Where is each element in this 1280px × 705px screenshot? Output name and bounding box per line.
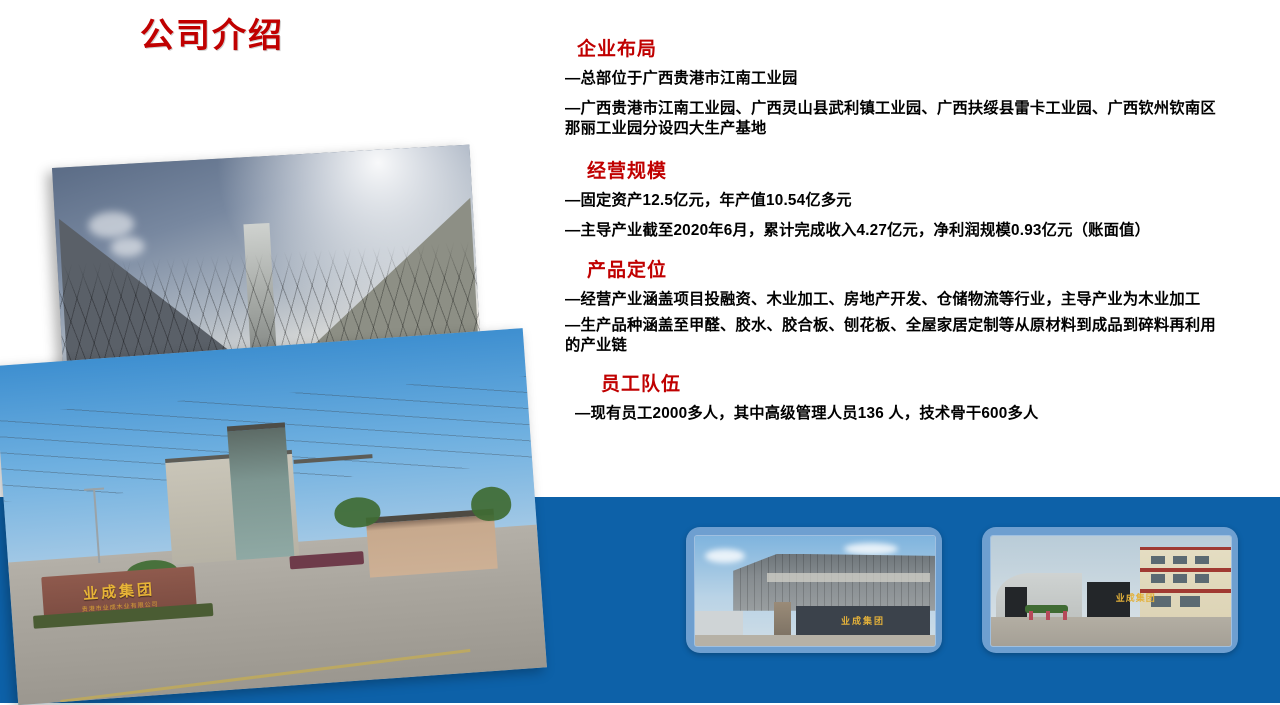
photo-company-gate: 业成集团 贵港市业成木业有限公司: [0, 328, 547, 705]
warehouse-body: [733, 554, 935, 611]
cloud-shape: [705, 549, 745, 563]
bullet-item: —总部位于广西贵港市江南工业园: [565, 69, 1225, 90]
section-heading: 产品定位: [587, 255, 1225, 282]
factory-gate-panel-secondary: [1005, 587, 1027, 618]
section-staff-team: 员工队伍 —现有员工2000多人，其中高级管理人员136 人，技术骨干600多人: [565, 369, 1225, 425]
section-heading: 企业布局: [577, 34, 1225, 61]
section-heading: 经营规模: [587, 156, 1225, 183]
barrier-post: [1046, 611, 1050, 620]
section-product-positioning: 产品定位 —经营产业涵盖项目投融资、木业加工、房地产开发、仓储物流等行业，主导产…: [565, 255, 1225, 357]
bullet-item: —生产品种涵盖至甲醛、胶水、胶合板、刨花板、全屋家居定制等从原材料到成品到碎料再…: [565, 316, 1225, 357]
cloud-shape: [844, 543, 898, 555]
bullet-item: —现有员工2000多人，其中高级管理人员136 人，技术骨干600多人: [575, 404, 1225, 425]
barrier-post: [1063, 611, 1067, 620]
page-title: 公司介绍: [140, 8, 284, 57]
facade-stripe: [1140, 568, 1231, 572]
office-building: [1140, 547, 1231, 620]
bullet-item: —经营产业涵盖项目投融资、木业加工、房地产开发、仓储物流等行业，主导产业为木业加…: [565, 290, 1225, 311]
window-shape: [1151, 556, 1166, 564]
section-heading: 员工队伍: [601, 369, 1225, 396]
adjacent-structure: [695, 611, 743, 637]
bullet-item: —主导产业截至2020年6月，累计完成收入4.27亿元，净利润规模0.93亿元（…: [565, 221, 1225, 242]
window-shape: [1173, 556, 1188, 564]
window-shape: [1173, 574, 1188, 584]
window-shape: [1151, 574, 1166, 584]
barrier-post: [1029, 611, 1033, 620]
office-building-center-glass: [227, 422, 295, 560]
factory-sign-text: 业成集团: [1116, 591, 1156, 604]
thumbnail-frame-factory-gate: 业成集团: [982, 527, 1238, 653]
bullet-item: —广西贵港市江南工业园、广西灵山县武利镇工业园、广西扶绥县雷卡工业园、广西钦州钦…: [565, 99, 1225, 140]
section-business-scale: 经营规模 —固定资产12.5亿元，年产值10.54亿多元 —主导产业截至2020…: [565, 156, 1225, 241]
gate-pillar: [774, 602, 791, 637]
ground-area: [991, 617, 1231, 646]
window-shape: [1195, 574, 1210, 584]
content-column: 企业布局 —总部位于广西贵港市江南工业园 —广西贵港市江南工业园、广西灵山县武利…: [565, 34, 1225, 434]
wall-band: [767, 573, 930, 582]
warehouse-sign-text: 业成集团: [841, 614, 885, 627]
window-shape: [1195, 556, 1210, 564]
bullet-item: —固定资产12.5亿元，年产值10.54亿多元: [565, 191, 1225, 212]
section-enterprise-layout: 企业布局 —总部位于广西贵港市江南工业园 —广西贵港市江南工业园、广西灵山县武利…: [565, 34, 1225, 140]
window-shape: [1180, 596, 1200, 607]
ground-area: [695, 635, 935, 646]
thumbnail-frame-warehouse: 业成集团: [686, 527, 942, 653]
thumbnail-image-warehouse: 业成集团: [694, 535, 936, 647]
metal-ribs-texture: [733, 554, 935, 611]
thumbnail-image-factory-gate: 业成集团: [990, 535, 1232, 647]
gate-wall: [366, 508, 497, 577]
warehouse-sign-wall: 业成集团: [796, 606, 930, 635]
